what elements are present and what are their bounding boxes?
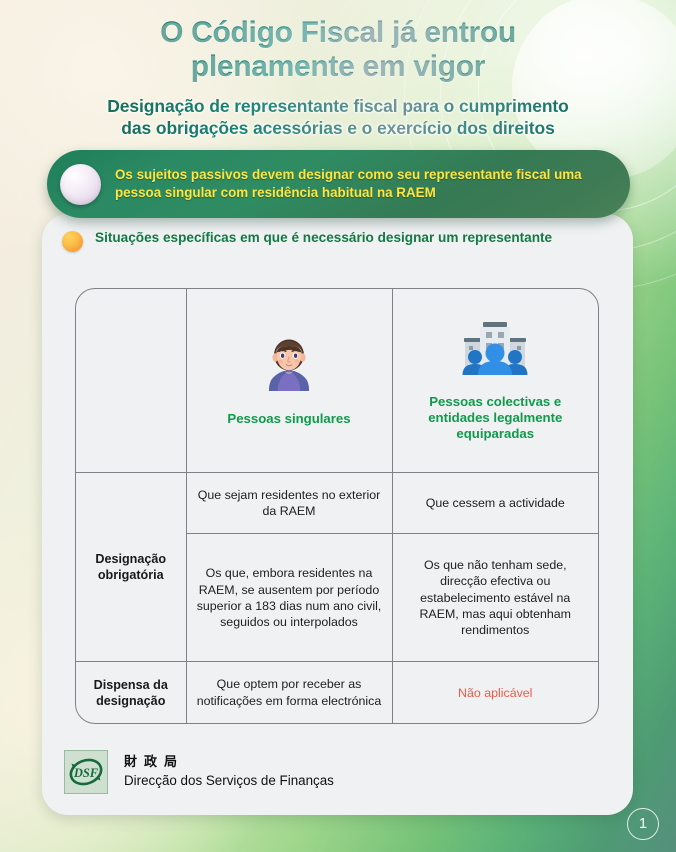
table-header-individuals-label: Pessoas singulares bbox=[227, 411, 350, 427]
cell-exemption-individual: Que optem por receber as notificações em… bbox=[186, 662, 392, 723]
section-heading-specific-situations: Situações específicas em que é necessári… bbox=[62, 229, 602, 252]
row-label-exemption-text: Dispensa da designação bbox=[86, 677, 176, 709]
cell-mandatory-entity-1: Que cessem a actividade bbox=[392, 472, 598, 534]
table-corner-cell bbox=[76, 289, 186, 472]
table-header-row: Pessoas singulares bbox=[76, 289, 598, 472]
footer: DSF 財政局 Direcção dos Serviços de Finança… bbox=[64, 750, 334, 794]
page-subtitle-line1: Designação de representante fiscal para … bbox=[0, 95, 676, 117]
page-subtitle-line2: das obrigações acessórias e o exercício … bbox=[0, 117, 676, 139]
section-heading-text: Situações específicas em que é necessári… bbox=[95, 229, 552, 247]
header: O Código Fiscal já entrou plenamente em … bbox=[0, 16, 676, 140]
cell-mandatory-individual-2: Os que, embora residentes na RAEM, se au… bbox=[186, 534, 392, 662]
table-header-entities: Pessoas colectivas e entidades legalment… bbox=[392, 289, 598, 472]
table-header-entities-label: Pessoas colectivas e entidades legalment… bbox=[403, 394, 589, 442]
cell-text: Os que, embora residentes na RAEM, se au… bbox=[197, 565, 382, 631]
footer-text: 財政局 Direcção dos Serviços de Finanças bbox=[124, 754, 334, 790]
cell-exemption-entity: Não aplicável bbox=[392, 662, 598, 723]
org-name-portuguese: Direcção dos Serviços de Finanças bbox=[124, 772, 334, 790]
rule-banner-text: Os sujeitos passivos devem designar como… bbox=[115, 166, 614, 202]
cell-text: Que sejam residentes no exterior da RAEM bbox=[197, 487, 382, 520]
rule-banner: Os sujeitos passivos devem designar como… bbox=[47, 150, 630, 218]
white-sphere-bullet-icon bbox=[60, 164, 101, 205]
cell-not-applicable: Não aplicável bbox=[403, 685, 589, 701]
table-row: Designação obrigatória Que sejam residen… bbox=[76, 472, 598, 534]
organization-building-icon bbox=[460, 319, 530, 384]
orange-sphere-bullet-icon bbox=[62, 231, 83, 252]
row-label-mandatory-text: Designação obrigatória bbox=[86, 551, 176, 583]
cell-text: Que cessem a actividade bbox=[403, 495, 589, 511]
row-label-exemption: Dispensa da designação bbox=[76, 662, 186, 723]
org-name-chinese: 財政局 bbox=[124, 754, 334, 771]
row-label-mandatory: Designação obrigatória bbox=[76, 472, 186, 662]
cell-text: Os que não tenham sede, direcção efectiv… bbox=[403, 557, 589, 639]
table-row: Dispensa da designação Que optem por rec… bbox=[76, 662, 598, 723]
page-subtitle: Designação de representante fiscal para … bbox=[0, 95, 676, 140]
cell-text: Que optem por receber as notificações em… bbox=[197, 676, 382, 709]
cell-mandatory-entity-2: Os que não tenham sede, direcção efectiv… bbox=[392, 534, 598, 662]
page-title-line1: O Código Fiscal já entrou bbox=[0, 16, 676, 50]
table-header-individuals: Pessoas singulares bbox=[186, 289, 392, 472]
dsf-logo-icon: DSF bbox=[64, 750, 108, 794]
svg-text:DSF: DSF bbox=[73, 766, 99, 780]
poster-root: O Código Fiscal já entrou plenamente em … bbox=[0, 0, 676, 852]
cell-mandatory-individual-1: Que sejam residentes no exterior da RAEM bbox=[186, 472, 392, 534]
person-avatar-icon bbox=[258, 334, 320, 401]
representative-matrix-table: Pessoas singulares bbox=[75, 288, 599, 724]
page-number-badge: 1 bbox=[627, 808, 659, 840]
page-title-line2: plenamente em vigor bbox=[0, 50, 676, 84]
